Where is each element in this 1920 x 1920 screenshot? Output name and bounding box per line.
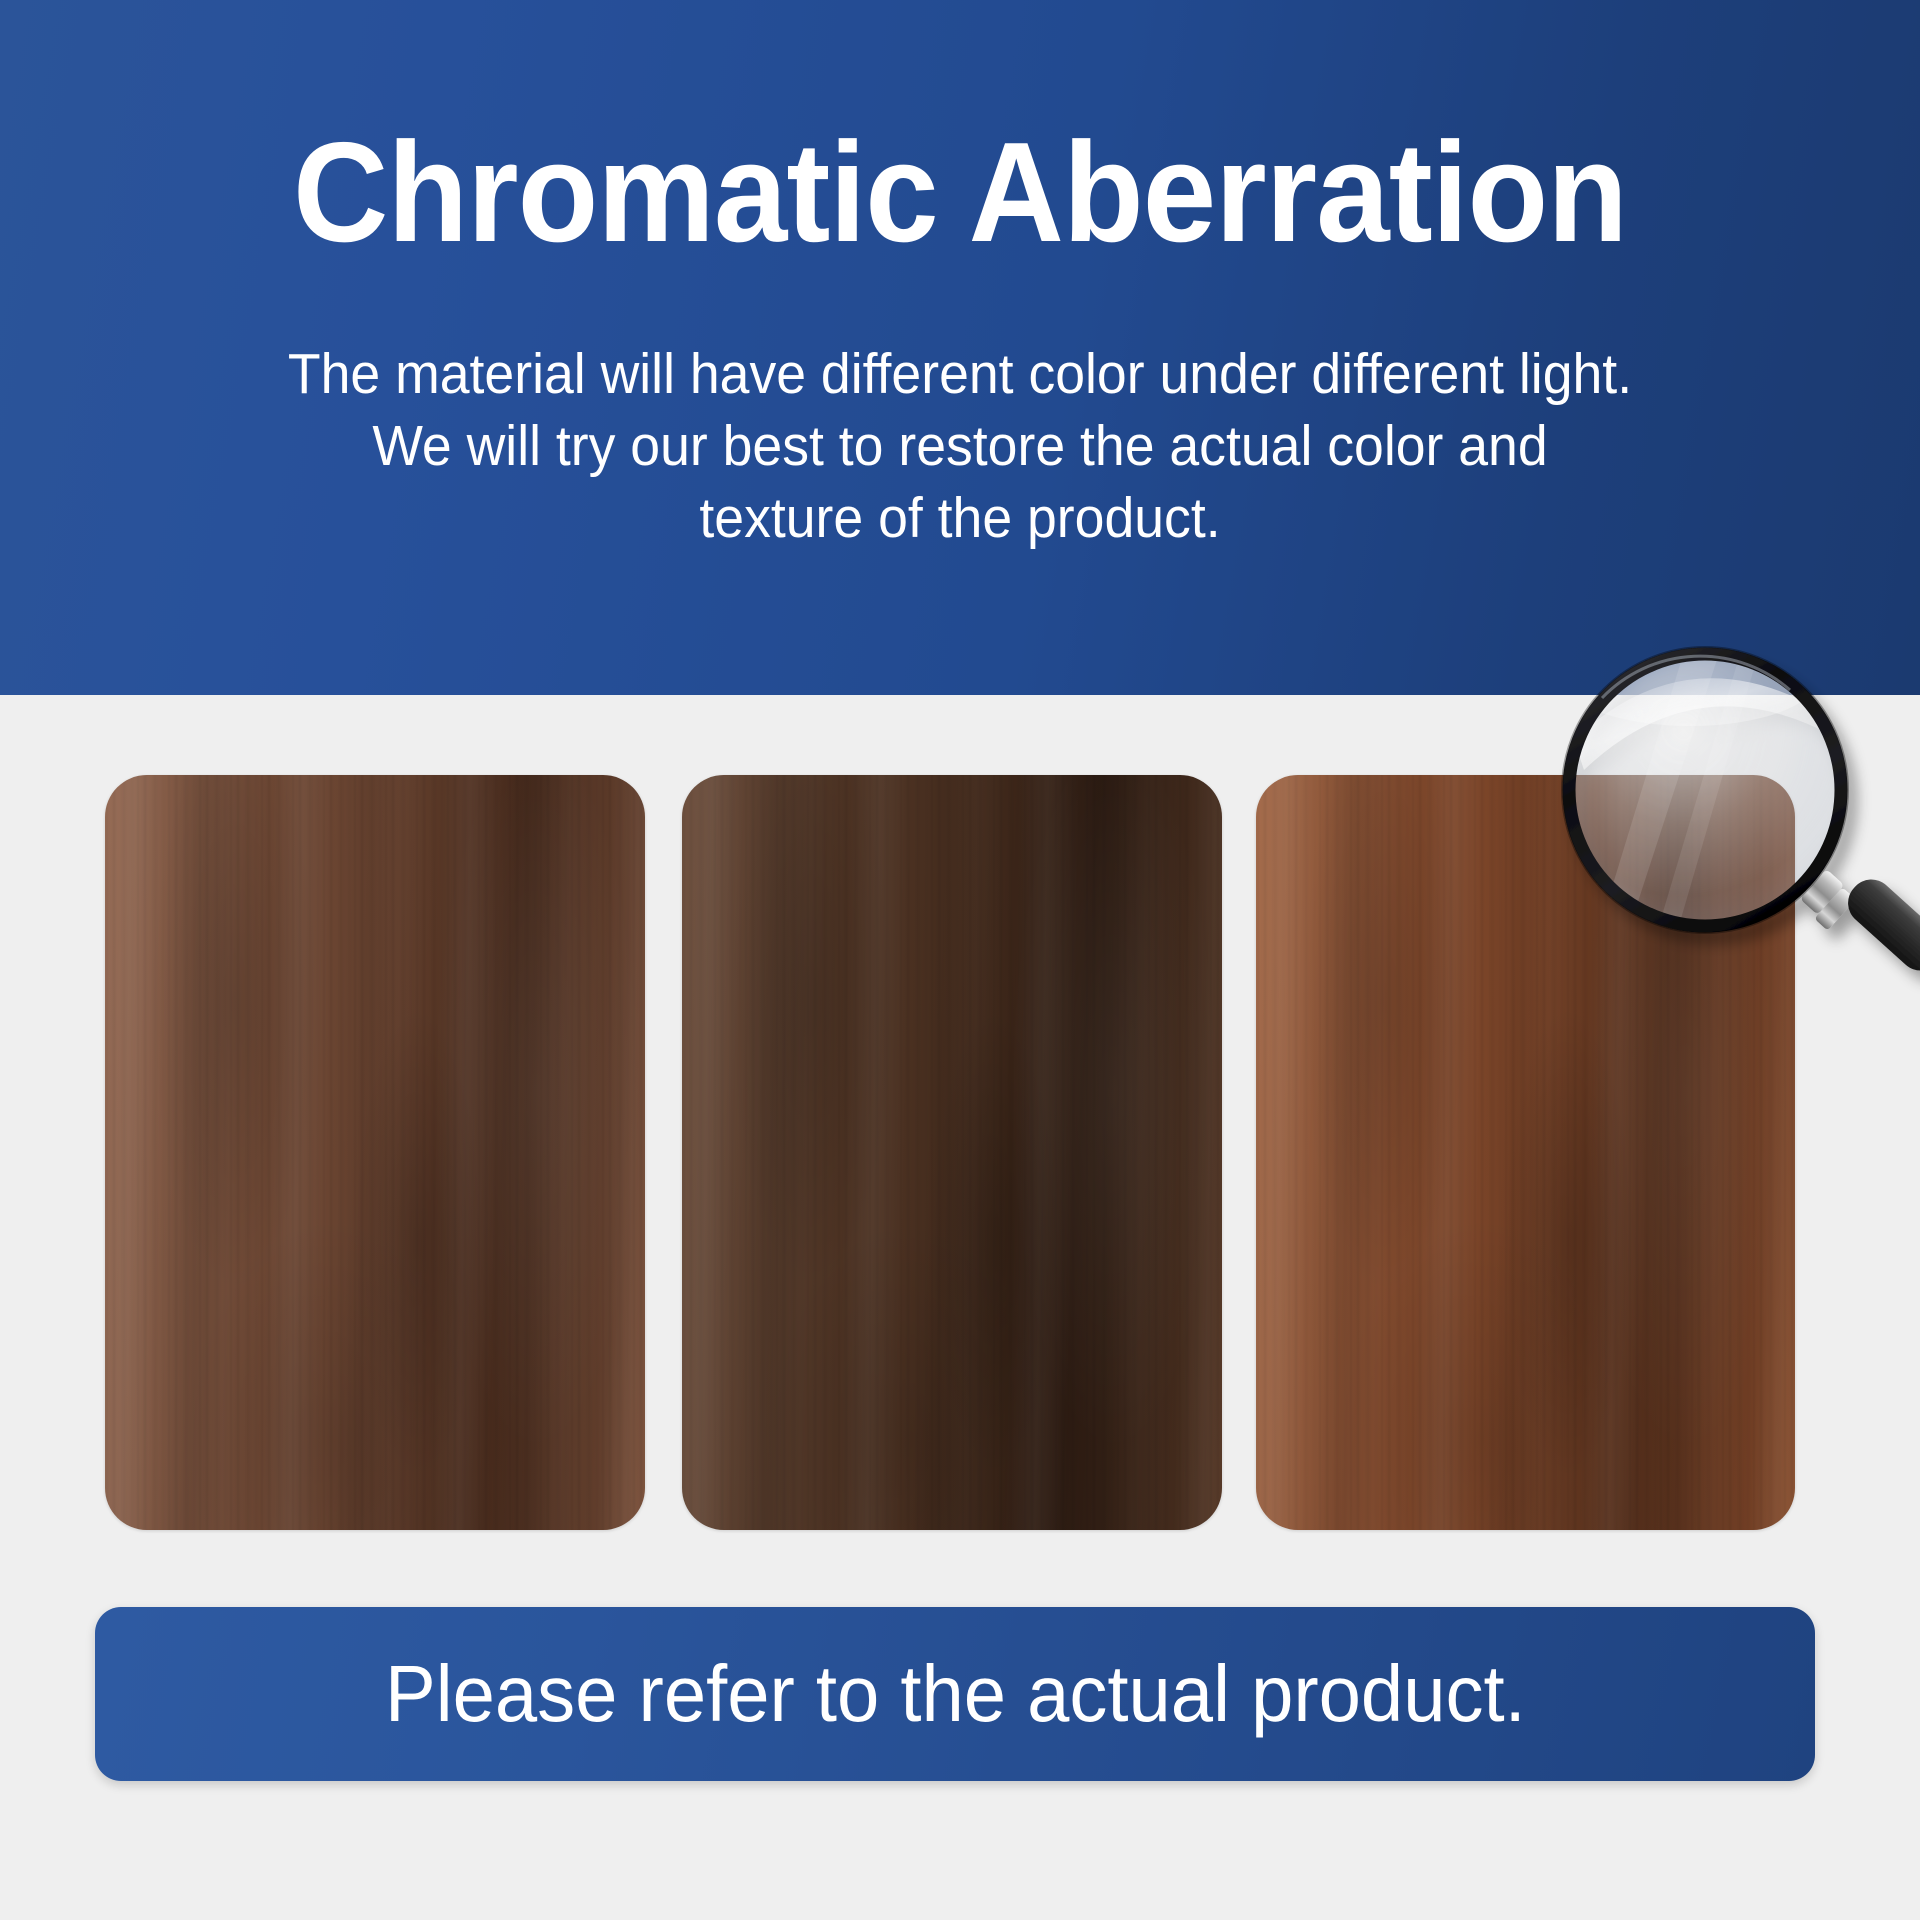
wood-sheen-left: [105, 775, 645, 1530]
page-title: Chromatic Aberration: [67, 118, 1853, 268]
subtitle-line-1: The material will have different color u…: [180, 338, 1740, 410]
swatch-left: [105, 775, 645, 1530]
magnifier-handle: [1800, 869, 1920, 979]
swatch-right: [1256, 775, 1795, 1530]
refer-to-actual-product-banner[interactable]: Please refer to the actual product.: [95, 1607, 1815, 1781]
chromatic-aberration-notice-page: Chromatic Aberration The material will h…: [0, 0, 1920, 1920]
subtitle-line-2: We will try our best to restore the actu…: [180, 410, 1740, 482]
swatch-center: [682, 775, 1222, 1530]
wood-sheen-right: [1256, 775, 1795, 1530]
color-swatch-row: [105, 775, 1795, 1530]
cta-label: Please refer to the actual product.: [385, 1651, 1526, 1737]
header-subtitle: The material will have different color u…: [180, 338, 1740, 554]
header-banner: Chromatic Aberration The material will h…: [0, 0, 1920, 695]
wood-sheen-center: [682, 775, 1222, 1530]
subtitle-line-3: texture of the product.: [180, 482, 1740, 554]
